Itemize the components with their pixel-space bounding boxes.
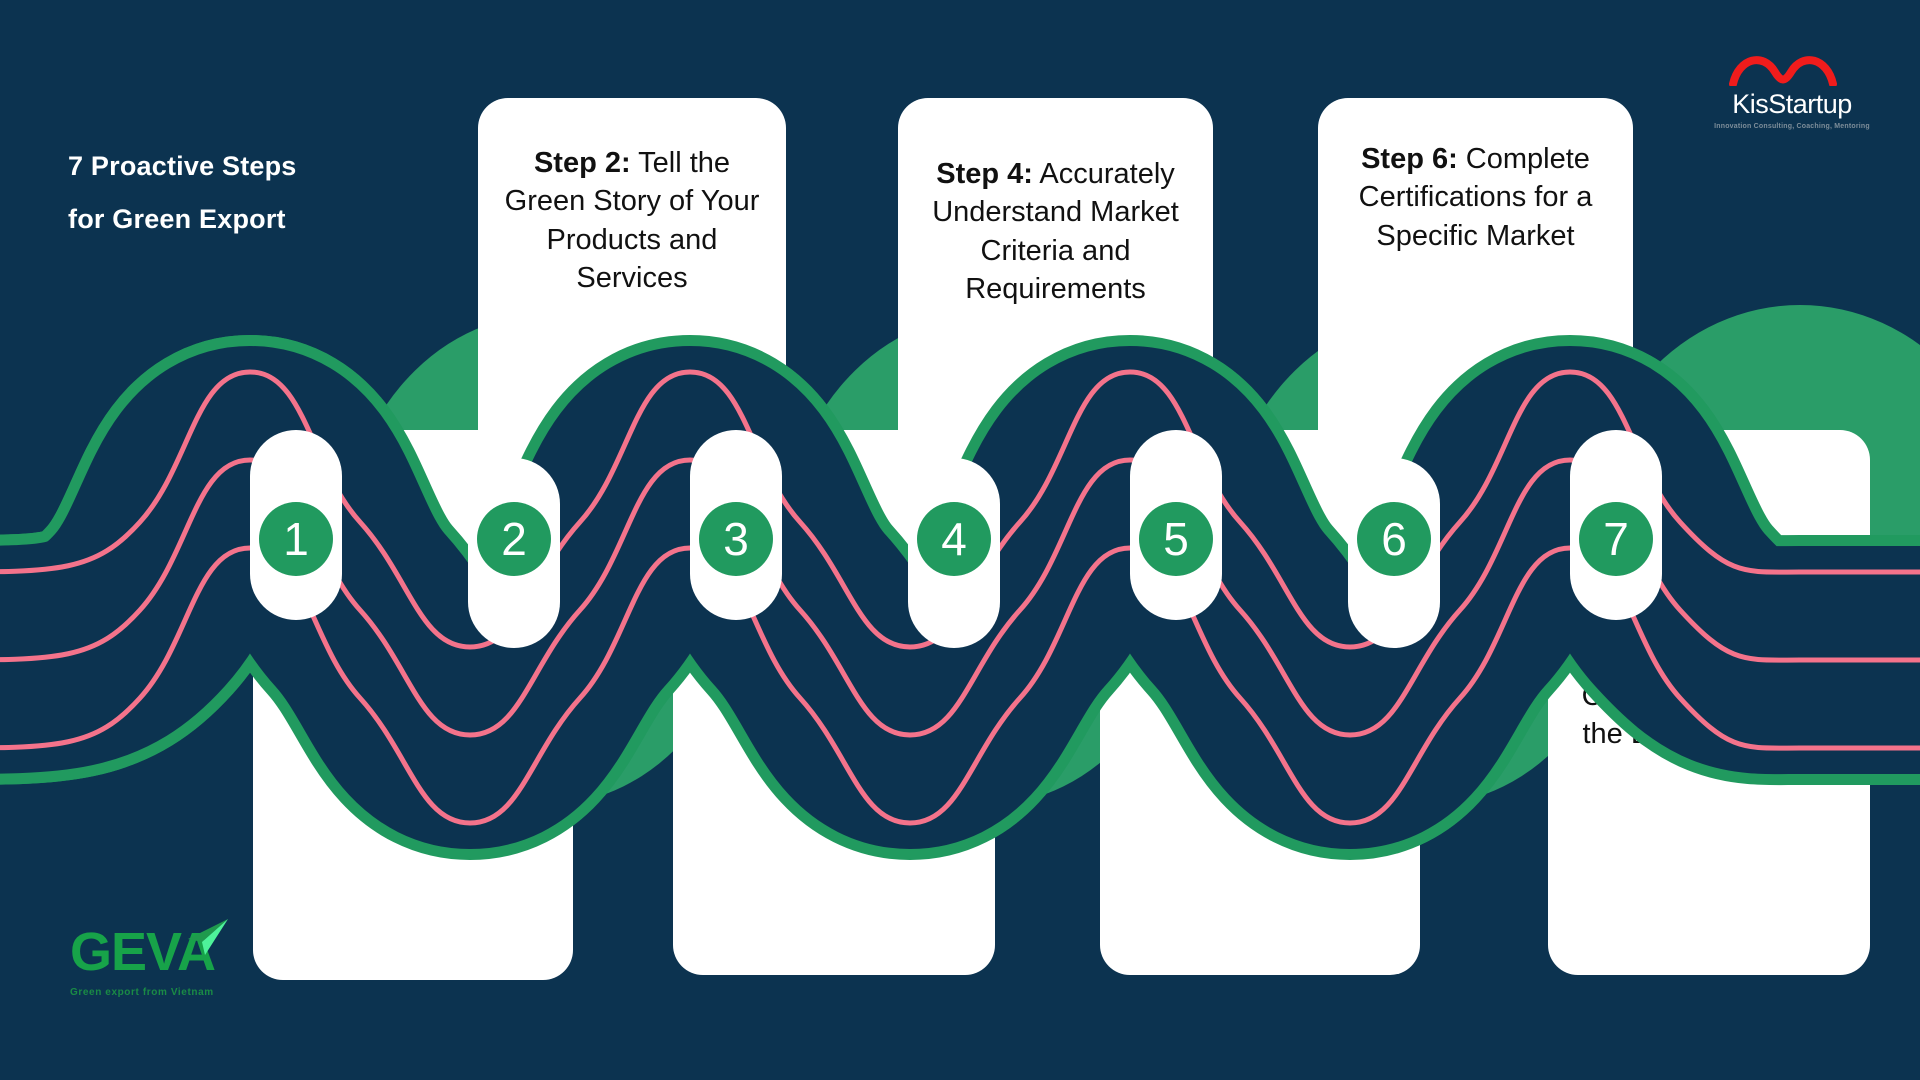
step-card-2-text: Step 2: Tell the Green Story of Your Pro… <box>496 144 768 297</box>
step-number-3: 3 <box>723 516 749 562</box>
geva-tagline: Green export from Vietnam <box>70 987 220 998</box>
page-title-line-2: for Green Export <box>68 193 398 246</box>
page-title: 7 Proactive Steps for Green Export <box>68 140 398 245</box>
step-number-6: 6 <box>1381 516 1407 562</box>
step-card-5-lead: Step 5: <box>1146 603 1243 635</box>
step-card-2-lead: Step 2: <box>534 147 631 179</box>
step-number-badge-2[interactable]: 2 <box>477 502 551 576</box>
step-number-1: 1 <box>283 516 309 562</box>
kisstartup-wordmark: KisStartup <box>1712 91 1872 118</box>
infographic-slide: 7 Proactive Steps for Green Export <box>0 0 1920 1080</box>
step-number-badge-3[interactable]: 3 <box>699 502 773 576</box>
step-number-badge-5[interactable]: 5 <box>1139 502 1213 576</box>
step-card-1-lead: Step 1: <box>286 603 383 635</box>
page-title-line-1: 7 Proactive Steps <box>68 140 398 193</box>
step-number-badge-1[interactable]: 1 <box>259 502 333 576</box>
step-number-7: 7 <box>1603 516 1629 562</box>
kisstartup-logo[interactable]: KisStartup Innovation Consulting, Coachi… <box>1712 52 1872 132</box>
step-card-7-text: Step 7: Expand the Market – Continuously… <box>1566 600 1852 753</box>
step-number-5: 5 <box>1163 516 1189 562</box>
step-card-4-text: Step 4: Accurately Understand Market Cri… <box>916 155 1195 308</box>
step-card-4-lead: Step 4: <box>936 158 1033 190</box>
step-card-1-text: Step 1: Analyze the Current Business Mod… <box>271 600 555 753</box>
step-number-badge-7[interactable]: 7 <box>1579 502 1653 576</box>
step-number-badge-4[interactable]: 4 <box>917 502 991 576</box>
step-card-6-text: Step 6: Complete Certifications for a Sp… <box>1336 140 1615 255</box>
step-number-4: 4 <box>941 516 967 562</box>
kisstartup-arc-icon <box>1727 52 1857 86</box>
step-number-badge-6[interactable]: 6 <box>1357 502 1431 576</box>
step-card-3-lead: Step 3: <box>699 603 796 635</box>
step-card-7-lead: Step 7: <box>1583 603 1680 635</box>
kisstartup-tagline: Innovation Consulting, Coaching, Mentori… <box>1712 123 1872 130</box>
geva-logo[interactable]: GEVA Green export from Vietnam <box>70 925 220 1015</box>
step-number-2: 2 <box>501 516 527 562</box>
paper-plane-icon <box>182 917 230 959</box>
step-card-6-lead: Step 6: <box>1361 143 1458 175</box>
